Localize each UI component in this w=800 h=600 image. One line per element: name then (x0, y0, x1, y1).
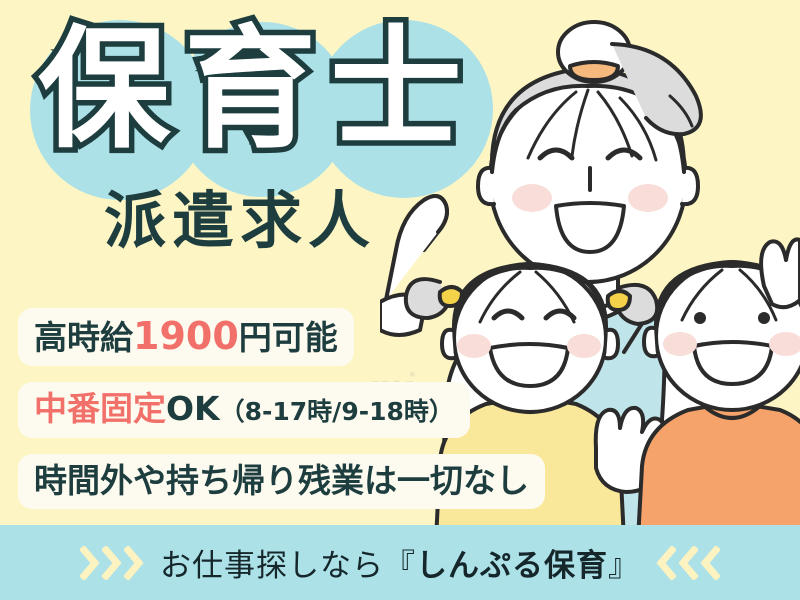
feature-shift-note: （8-17時/9-18時） (220, 397, 454, 426)
left-chevron-group (80, 546, 144, 580)
footer-close-quote: 』 (608, 548, 640, 584)
feature-wage-amount: 1900 (133, 314, 239, 358)
feature-overtime-text: 時間外や持ち帰り残業は一切なし (34, 461, 529, 500)
feature-shift-suffix: OK (166, 389, 220, 428)
footer-banner: お仕事探しなら『しんぷる保育』 (0, 525, 800, 600)
feature-pill-wage: 高時給1900円可能 (18, 308, 354, 366)
footer-tagline: お仕事探しなら『しんぷる保育』 (160, 540, 640, 585)
feature-wage-suffix: 円可能 (239, 318, 338, 357)
chevron-left-icon (656, 546, 676, 580)
brand-name: しんぷる保育 (416, 548, 608, 584)
chevron-left-icon (700, 546, 720, 580)
page-title: 保育士 (38, 24, 498, 156)
chevron-left-icon (678, 546, 698, 580)
feature-shift-highlight: 中番固定 (34, 389, 166, 428)
page-subtitle: 派遣求人 (104, 190, 376, 252)
chevron-right-icon (80, 546, 100, 580)
footer-lead-text: お仕事探しなら (160, 548, 384, 584)
right-chevron-group (656, 546, 720, 580)
footer-open-quote: 『 (384, 548, 416, 584)
job-ad-banner: 保育士 派遣求人 mi 高時給1900円可能 中番固定OK（8-17時/9-18… (0, 0, 800, 600)
feature-pill-overtime: 時間外や持ち帰り残業は一切なし (18, 454, 545, 509)
chevron-right-icon (124, 546, 144, 580)
chevron-right-icon (102, 546, 122, 580)
feature-list: 高時給1900円可能 中番固定OK（8-17時/9-18時） 時間外や持ち帰り残… (18, 308, 538, 525)
feature-wage-prefix: 高時給 (34, 318, 133, 357)
feature-pill-shift: 中番固定OK（8-17時/9-18時） (18, 382, 470, 437)
